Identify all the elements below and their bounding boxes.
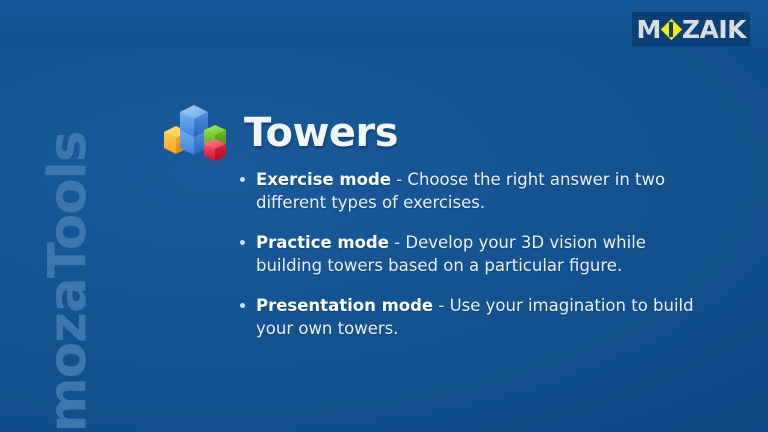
list-item: Exercise mode - Choose the right answer …	[238, 168, 708, 215]
logo-text-zaik: ZAIK	[682, 17, 746, 42]
mode-list: Exercise mode - Choose the right answer …	[238, 168, 708, 357]
mode-label: Exercise mode	[256, 170, 391, 189]
list-item: Practice mode - Develop your 3D vision w…	[238, 231, 708, 278]
mode-separator: -	[389, 233, 405, 252]
mode-separator: -	[433, 296, 449, 315]
slide-header: Towers	[160, 104, 398, 162]
mode-separator: -	[391, 170, 407, 189]
list-item: Presentation mode - Use your imagination…	[238, 294, 708, 341]
logo-text-m: M	[636, 17, 660, 42]
diamond-icon	[662, 17, 681, 41]
presentation-slide: M ZAIK mozaTools	[0, 0, 768, 432]
towers-blocks-icon	[160, 104, 232, 162]
mozaik-logo[interactable]: M ZAIK	[632, 12, 750, 46]
mode-label: Presentation mode	[256, 296, 433, 315]
mozatools-watermark: mozaTools	[38, 133, 99, 432]
mode-label: Practice mode	[256, 233, 389, 252]
page-title: Towers	[244, 113, 398, 153]
